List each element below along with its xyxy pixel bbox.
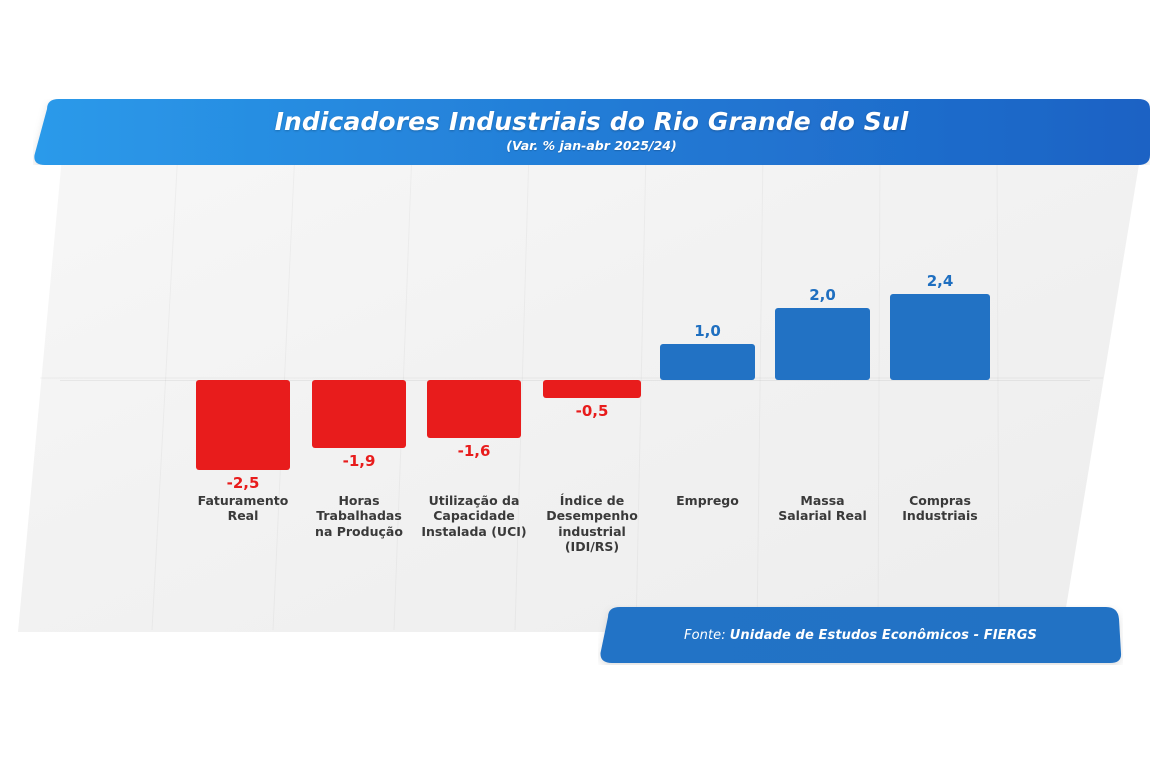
infographic-stage: Indicadores Industriais do Rio Grande do… (0, 0, 1170, 761)
category-label-3: Utilização da Capacidade Instalada (UCI) (413, 493, 535, 539)
bar-3 (427, 380, 521, 438)
bar-7 (890, 294, 990, 380)
bar-value-label-7: 2,4 (890, 272, 990, 290)
category-label-5: Emprego (646, 493, 769, 508)
category-label-4: Índice de Desempenho industrial (IDI/RS) (529, 493, 655, 554)
category-label-2: Horas Trabalhadas na Produção (298, 493, 420, 539)
bar-value-label-6: 2,0 (775, 286, 870, 304)
bar-1 (196, 380, 290, 470)
bar-5 (660, 344, 755, 380)
bar-value-label-4: -0,5 (543, 402, 641, 420)
bar-6 (775, 308, 870, 380)
bar-value-label-3: -1,6 (427, 442, 521, 460)
source-text: Fonte: Unidade de Estudos Econômicos - F… (598, 605, 1123, 665)
source-name: Unidade de Estudos Econômicos - FIERGS (730, 628, 1037, 643)
category-label-1: Faturamento Real (182, 493, 304, 524)
source-banner: Fonte: Unidade de Estudos Econômicos - F… (598, 605, 1123, 665)
bar-4 (543, 380, 641, 398)
category-label-6: Massa Salarial Real (761, 493, 884, 524)
bar-value-label-5: 1,0 (660, 322, 755, 340)
category-label-7: Compras Industriais (876, 493, 1004, 524)
bar-value-label-2: -1,9 (312, 452, 406, 470)
bar-value-label-1: -2,5 (196, 474, 290, 492)
source-prefix: Fonte: (684, 628, 726, 643)
bar-2 (312, 380, 406, 448)
